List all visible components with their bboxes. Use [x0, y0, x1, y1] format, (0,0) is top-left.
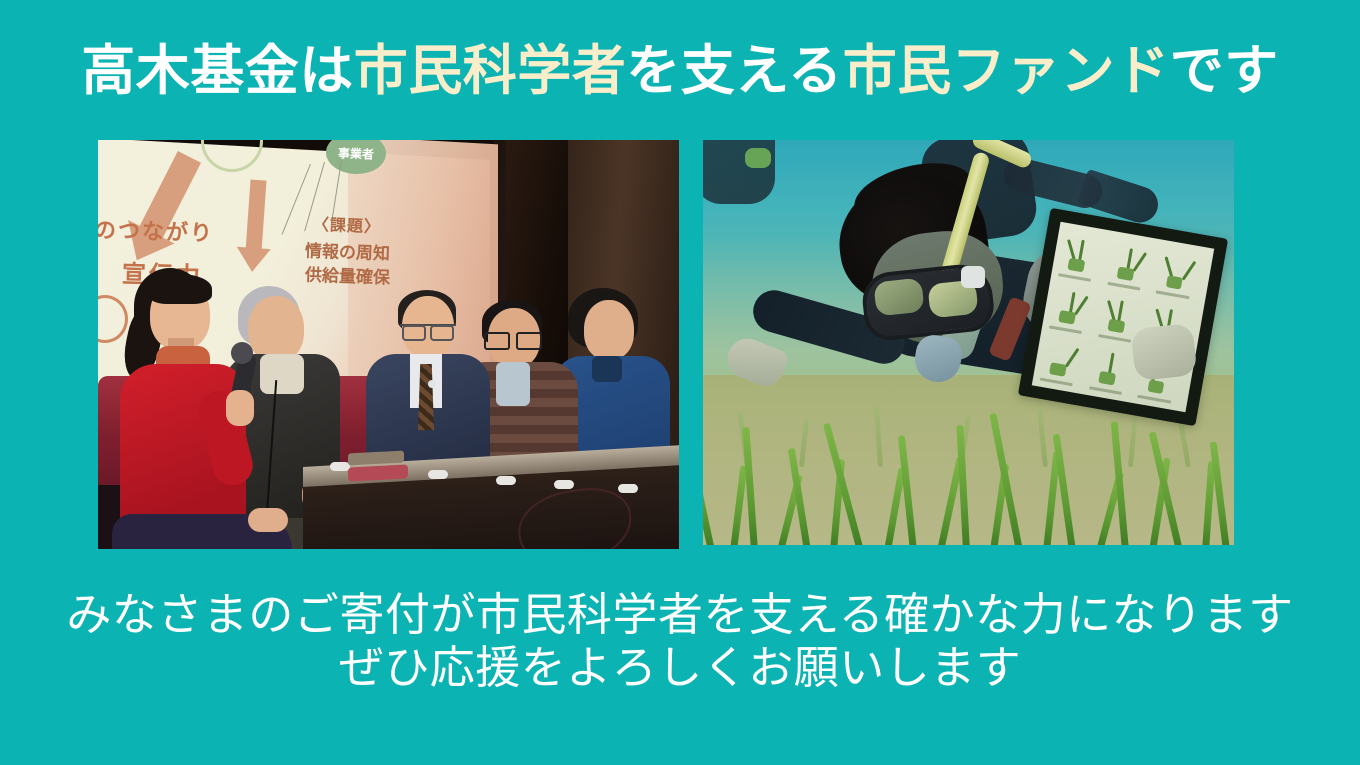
- panelist-4-shirt: [496, 362, 530, 406]
- slate-cell: [1105, 236, 1160, 293]
- slide-text-tsunagari: のつながり: [98, 212, 214, 247]
- stage-background: 事業者 のつながり 宣伝力 〈課題〉 情報の周知 供給量確保: [98, 140, 679, 549]
- underwater-background: [703, 140, 1234, 545]
- panelist-1-fringe: [148, 274, 212, 304]
- panelist-1-hand-resting: [248, 508, 288, 532]
- donation-message: みなさまのご寄付が市民科学者を支える確かな力になります ぜひ応援をよろしくお願い…: [0, 588, 1360, 694]
- panelist-3-tie: [418, 364, 434, 430]
- panelist-2-collar: [260, 354, 304, 394]
- panelist-5-head: [584, 300, 634, 360]
- panelist-5-collar: [592, 356, 622, 382]
- slide-text-kyokyuryo-kakuho: 供給量確保: [305, 261, 391, 289]
- panelist-3-lapel-pin: [428, 380, 436, 388]
- table-mic-1: [330, 462, 350, 471]
- slate-cell: [1038, 332, 1093, 389]
- slate-cell: [1047, 280, 1102, 337]
- panelist-1-hand: [226, 390, 254, 426]
- title-segment-1: 高木基金は: [81, 39, 354, 102]
- donation-message-line-2: ぜひ応援をよろしくお願いします: [0, 641, 1360, 694]
- table-mic-4: [496, 476, 516, 485]
- slate-cell: [1154, 245, 1209, 302]
- survey-slate: [1018, 208, 1228, 426]
- slate-cell: [1056, 228, 1111, 285]
- title-segment-4: 市民ファンド: [843, 39, 1170, 102]
- title-segment-3: を支える: [626, 39, 842, 102]
- diver-right-hand: [1130, 323, 1197, 381]
- slide-text-kadai-heading: 〈課題〉: [313, 211, 382, 237]
- panelist-4-glasses-icon: [484, 332, 542, 346]
- microphone-head-icon: [231, 342, 253, 364]
- table-mic-6: [618, 484, 638, 493]
- background-diver-fin: [745, 148, 771, 168]
- title-segment-5: です: [1170, 39, 1279, 102]
- table-mic-5: [554, 480, 574, 489]
- photo-underwater-survey: [703, 140, 1234, 545]
- table-mic-3: [428, 470, 448, 479]
- photo-panel-discussion: 事業者 のつながり 宣伝力 〈課題〉 情報の周知 供給量確保: [98, 140, 679, 549]
- seagrass-identification-chart: [1032, 222, 1214, 413]
- panelist-2-head: [248, 296, 304, 362]
- title-segment-2: 市民科学者: [354, 39, 627, 102]
- panelist-3-glasses-icon: [400, 324, 456, 338]
- donation-message-line-1: みなさまのご寄付が市民科学者を支える確かな力になります: [0, 588, 1360, 641]
- slide-root: 高木基金は市民科学者を支える市民ファンドです 事業者 のつながり 宣伝力 〈課題…: [0, 0, 1360, 765]
- dive-mask-lens-left: [873, 278, 924, 317]
- page-title: 高木基金は市民科学者を支える市民ファンドです: [0, 40, 1360, 102]
- snorkel-clip: [961, 266, 985, 288]
